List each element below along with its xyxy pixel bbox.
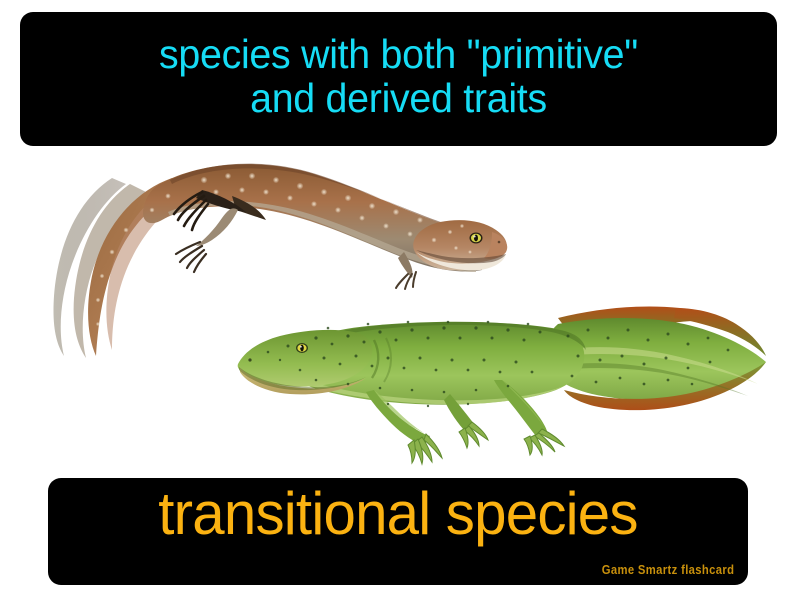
definition-text: species with both "primitive" and derive… bbox=[159, 32, 638, 121]
term-banner: transitional species Game Smartz flashca… bbox=[48, 478, 748, 585]
definition-banner: species with both "primitive" and derive… bbox=[20, 12, 777, 146]
term-text: transitional species bbox=[59, 484, 738, 544]
illustration-stage bbox=[0, 146, 800, 478]
attribution-label: Game Smartz flashcard bbox=[601, 563, 734, 577]
green-amphibian-illustration bbox=[228, 294, 788, 474]
